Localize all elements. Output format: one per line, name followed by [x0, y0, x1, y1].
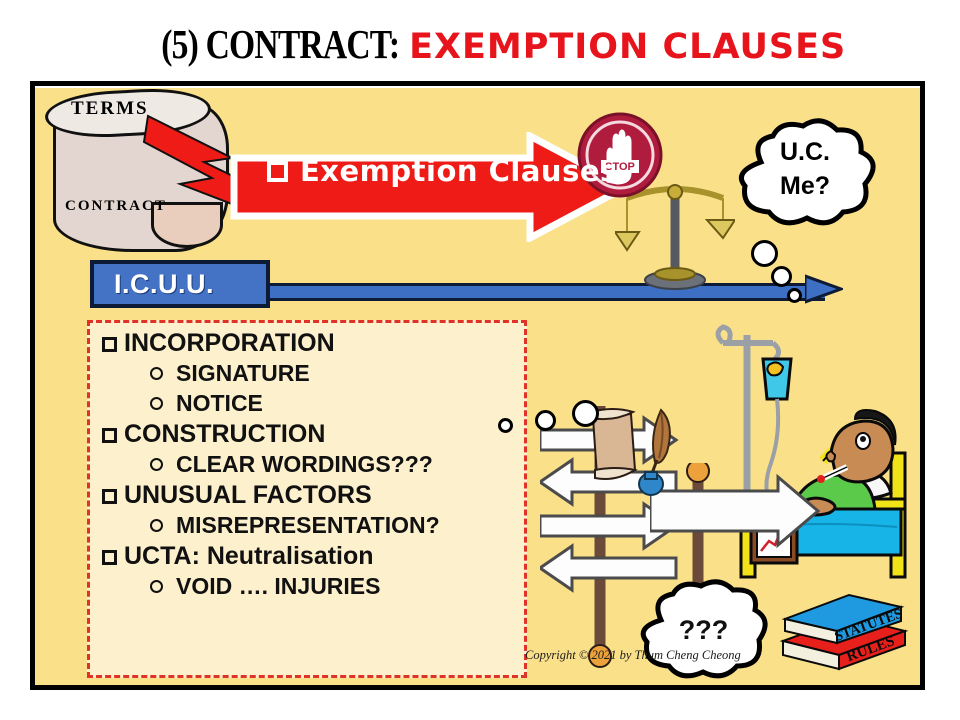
question-trail-dot-small	[498, 418, 513, 433]
list-item-label: INCORPORATION	[124, 331, 335, 356]
circle-bullet-icon	[150, 458, 163, 471]
list-item-label: CLEAR WORDINGS???	[176, 453, 433, 476]
uc-line-2: Me?	[725, 170, 885, 204]
law-books-icon: STATUTES RULES	[775, 593, 910, 675]
arrow-banner-label: Exemption Clauses	[300, 154, 618, 188]
list-item-label: NOTICE	[176, 392, 263, 415]
page-title: (5) CONTRACT:EXEMPTION CLAUSES	[109, 24, 846, 65]
list-item-label: UCTA: Neutralisation	[124, 544, 374, 569]
scroll-terms-label: TERMS	[71, 98, 149, 120]
thought-trail-dot-small	[787, 288, 802, 303]
square-bullet-icon	[102, 489, 117, 504]
list-item-label: VOID …. INJURIES	[176, 575, 380, 598]
list-item-label: SIGNATURE	[176, 362, 310, 385]
icuu-arrowhead-icon	[805, 268, 843, 310]
slide-canvas: (5) CONTRACT:EXEMPTION CLAUSES TERMS CON…	[0, 0, 960, 720]
question-trail-dot-medium	[535, 410, 556, 431]
icuu-connector-line	[260, 283, 825, 301]
list-item[interactable]: VOID …. INJURIES	[150, 575, 524, 598]
icuu-banner[interactable]: I.C.U.U.	[90, 260, 270, 308]
title-prefix: (5) CONTRACT:	[161, 24, 399, 65]
slide-body: TERMS CONTRACT Exemption Clauses STOP	[35, 88, 920, 685]
uc-line-1: U.C.	[725, 136, 885, 170]
title-highlight: EXEMPTION CLAUSES	[409, 30, 846, 65]
list-item[interactable]: INCORPORATION	[102, 331, 524, 356]
list-item-label: UNUSUAL FACTORS	[124, 483, 372, 508]
icuu-banner-label: I.C.U.U.	[94, 269, 214, 300]
square-bullet-icon	[102, 428, 117, 443]
list-item[interactable]: MISREPRESENTATION?	[150, 514, 524, 537]
circle-bullet-icon	[150, 367, 163, 380]
circle-bullet-icon	[150, 397, 163, 410]
circle-bullet-icon	[150, 519, 163, 532]
list-item[interactable]: SIGNATURE	[150, 362, 524, 385]
list-item[interactable]: CLEAR WORDINGS???	[150, 453, 524, 476]
question-thought-text: ???	[631, 615, 776, 646]
list-item[interactable]: CONSTRUCTION	[102, 422, 524, 447]
outline-panel: INCORPORATION SIGNATURE NOTICE CONSTRUCT…	[87, 320, 527, 678]
square-bullet-icon	[102, 337, 117, 352]
list-item-label: CONSTRUCTION	[124, 422, 325, 447]
quill-and-inkwell-icon	[635, 406, 683, 496]
slide-title-bar: (5) CONTRACT:EXEMPTION CLAUSES	[30, 8, 925, 86]
question-trail-dot-large	[572, 400, 599, 427]
circle-bullet-icon	[150, 580, 163, 593]
checkbox-icon	[267, 161, 288, 182]
copyright-notice: Copyright © 2021 by Thum Cheng Cheong	[525, 648, 741, 663]
thought-trail-dot-medium	[771, 266, 792, 287]
list-item[interactable]: UNUSUAL FACTORS	[102, 483, 524, 508]
square-bullet-icon	[102, 550, 117, 565]
uc-me-thought-text: U.C. Me?	[725, 136, 885, 204]
arrow-banner-label-group: Exemption Clauses	[267, 154, 618, 188]
list-item[interactable]: NOTICE	[150, 392, 524, 415]
thought-trail-dot-large	[751, 240, 778, 267]
list-item[interactable]: UCTA: Neutralisation	[102, 544, 524, 569]
list-item-label: MISREPRESENTATION?	[176, 514, 440, 537]
